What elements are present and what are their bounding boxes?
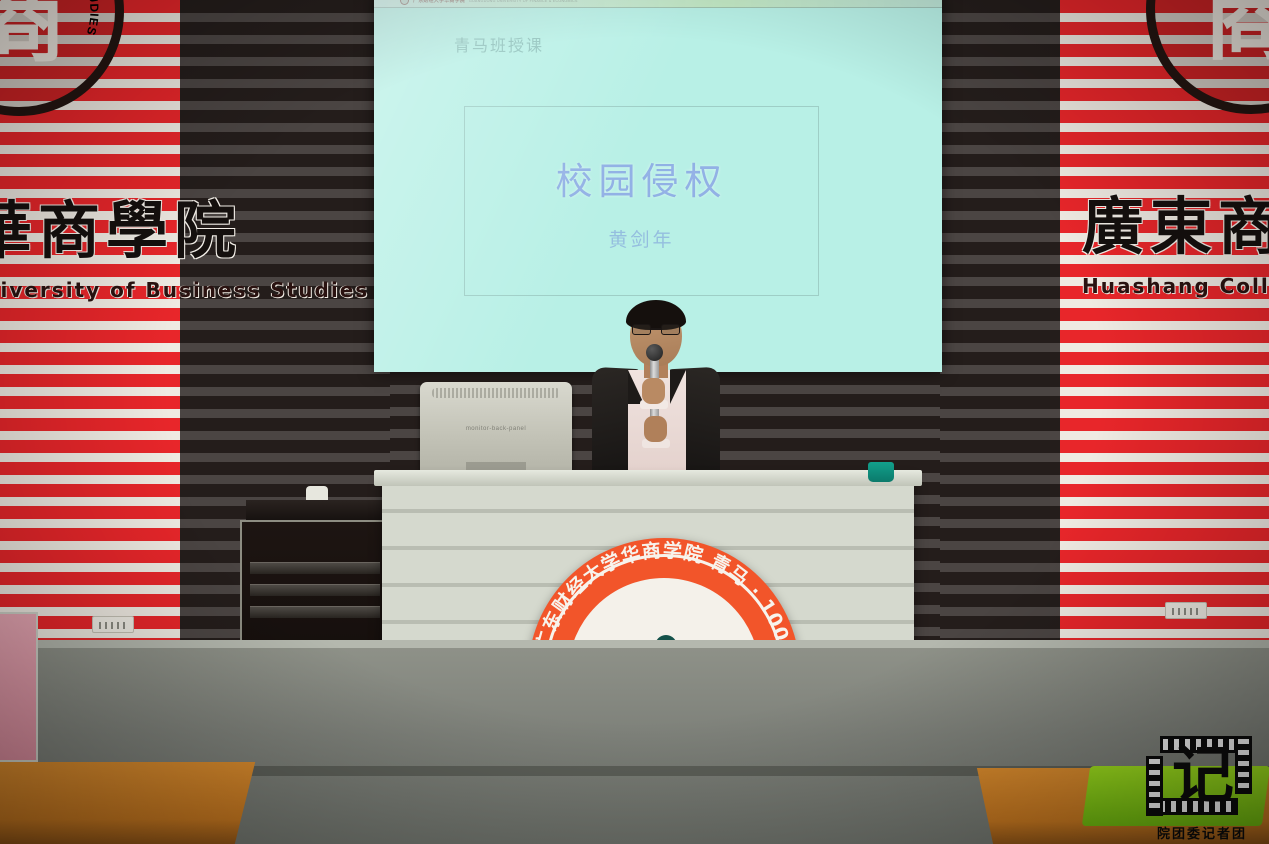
wall-banner-right-english: Huashang College Guangdong <box>1082 274 1269 298</box>
slide-eyebrow-label: 青马班授课 <box>454 32 544 56</box>
slide-header-chinese: 广东财经大学华商学院 <box>413 0 465 4</box>
university-seal-icon <box>400 0 409 5</box>
microphone-head <box>646 344 663 361</box>
wall-logo-left-icon: COLLEGE OF BUSINESS STUDIES 商 <box>0 0 124 116</box>
wall-dark-panel-right <box>940 0 1060 660</box>
glasses-lens-right <box>661 324 680 335</box>
monitor-back-label: monitor-back-panel <box>420 426 572 432</box>
pink-standing-sign <box>0 612 38 762</box>
film-strip-icon <box>1146 756 1163 816</box>
monitor-icon: monitor-back-panel <box>420 382 572 474</box>
glasses-icon <box>632 324 680 335</box>
power-socket-icon <box>1165 602 1207 619</box>
rack-unit <box>250 584 380 596</box>
power-socket-icon <box>92 616 134 633</box>
teal-cup <box>868 462 894 482</box>
wooden-table-left <box>0 762 255 844</box>
watermark-glyph: 记 <box>1172 744 1234 806</box>
slide-title-box: 校园侵权 黄剑年 <box>464 106 819 296</box>
rack-top-gear <box>246 500 386 522</box>
rack-unit <box>250 562 380 574</box>
wall-logo-right-glyph: 商 <box>1203 0 1269 79</box>
photographer-watermark: 记 院团委记者团 <box>1146 736 1258 840</box>
slide-author: 黄剑年 <box>465 225 818 252</box>
speaker-hand-upper <box>642 378 665 404</box>
wall-logo-left-glyph: 商 <box>0 0 67 81</box>
wall-banner-left-english: University of Business Studies <box>0 278 369 302</box>
wall-banner-left-chinese: 華商學院 <box>0 200 242 262</box>
glasses-bridge <box>651 328 661 330</box>
speaker-collar-right <box>670 370 686 404</box>
podium-surface <box>374 470 922 486</box>
speaker-hand-lower <box>644 416 667 442</box>
watermark-text: 院团委记者团 <box>1146 823 1258 842</box>
slide-title: 校园侵权 <box>465 151 818 205</box>
wall-logo-right-icon: HUASHANG GUANGDONG UNIVERSITY 商 <box>1146 0 1269 114</box>
speaker-person <box>588 300 720 490</box>
film-strip-icon <box>1235 736 1252 794</box>
glasses-lens-left <box>632 324 651 335</box>
slide-header-bar: 广东财经大学华商学院 GUANGDONG UNIVERSITY OF FINAN… <box>374 0 942 8</box>
wall-banner-right-chinese: 廣東商學院 <box>1082 196 1269 258</box>
rack-unit <box>250 606 380 618</box>
slide-header-english: GUANGDONG UNIVERSITY OF FINANCE & ECONOM… <box>469 0 578 3</box>
photo-scene: COLLEGE OF BUSINESS STUDIES 商 HUASHANG G… <box>0 0 1269 844</box>
